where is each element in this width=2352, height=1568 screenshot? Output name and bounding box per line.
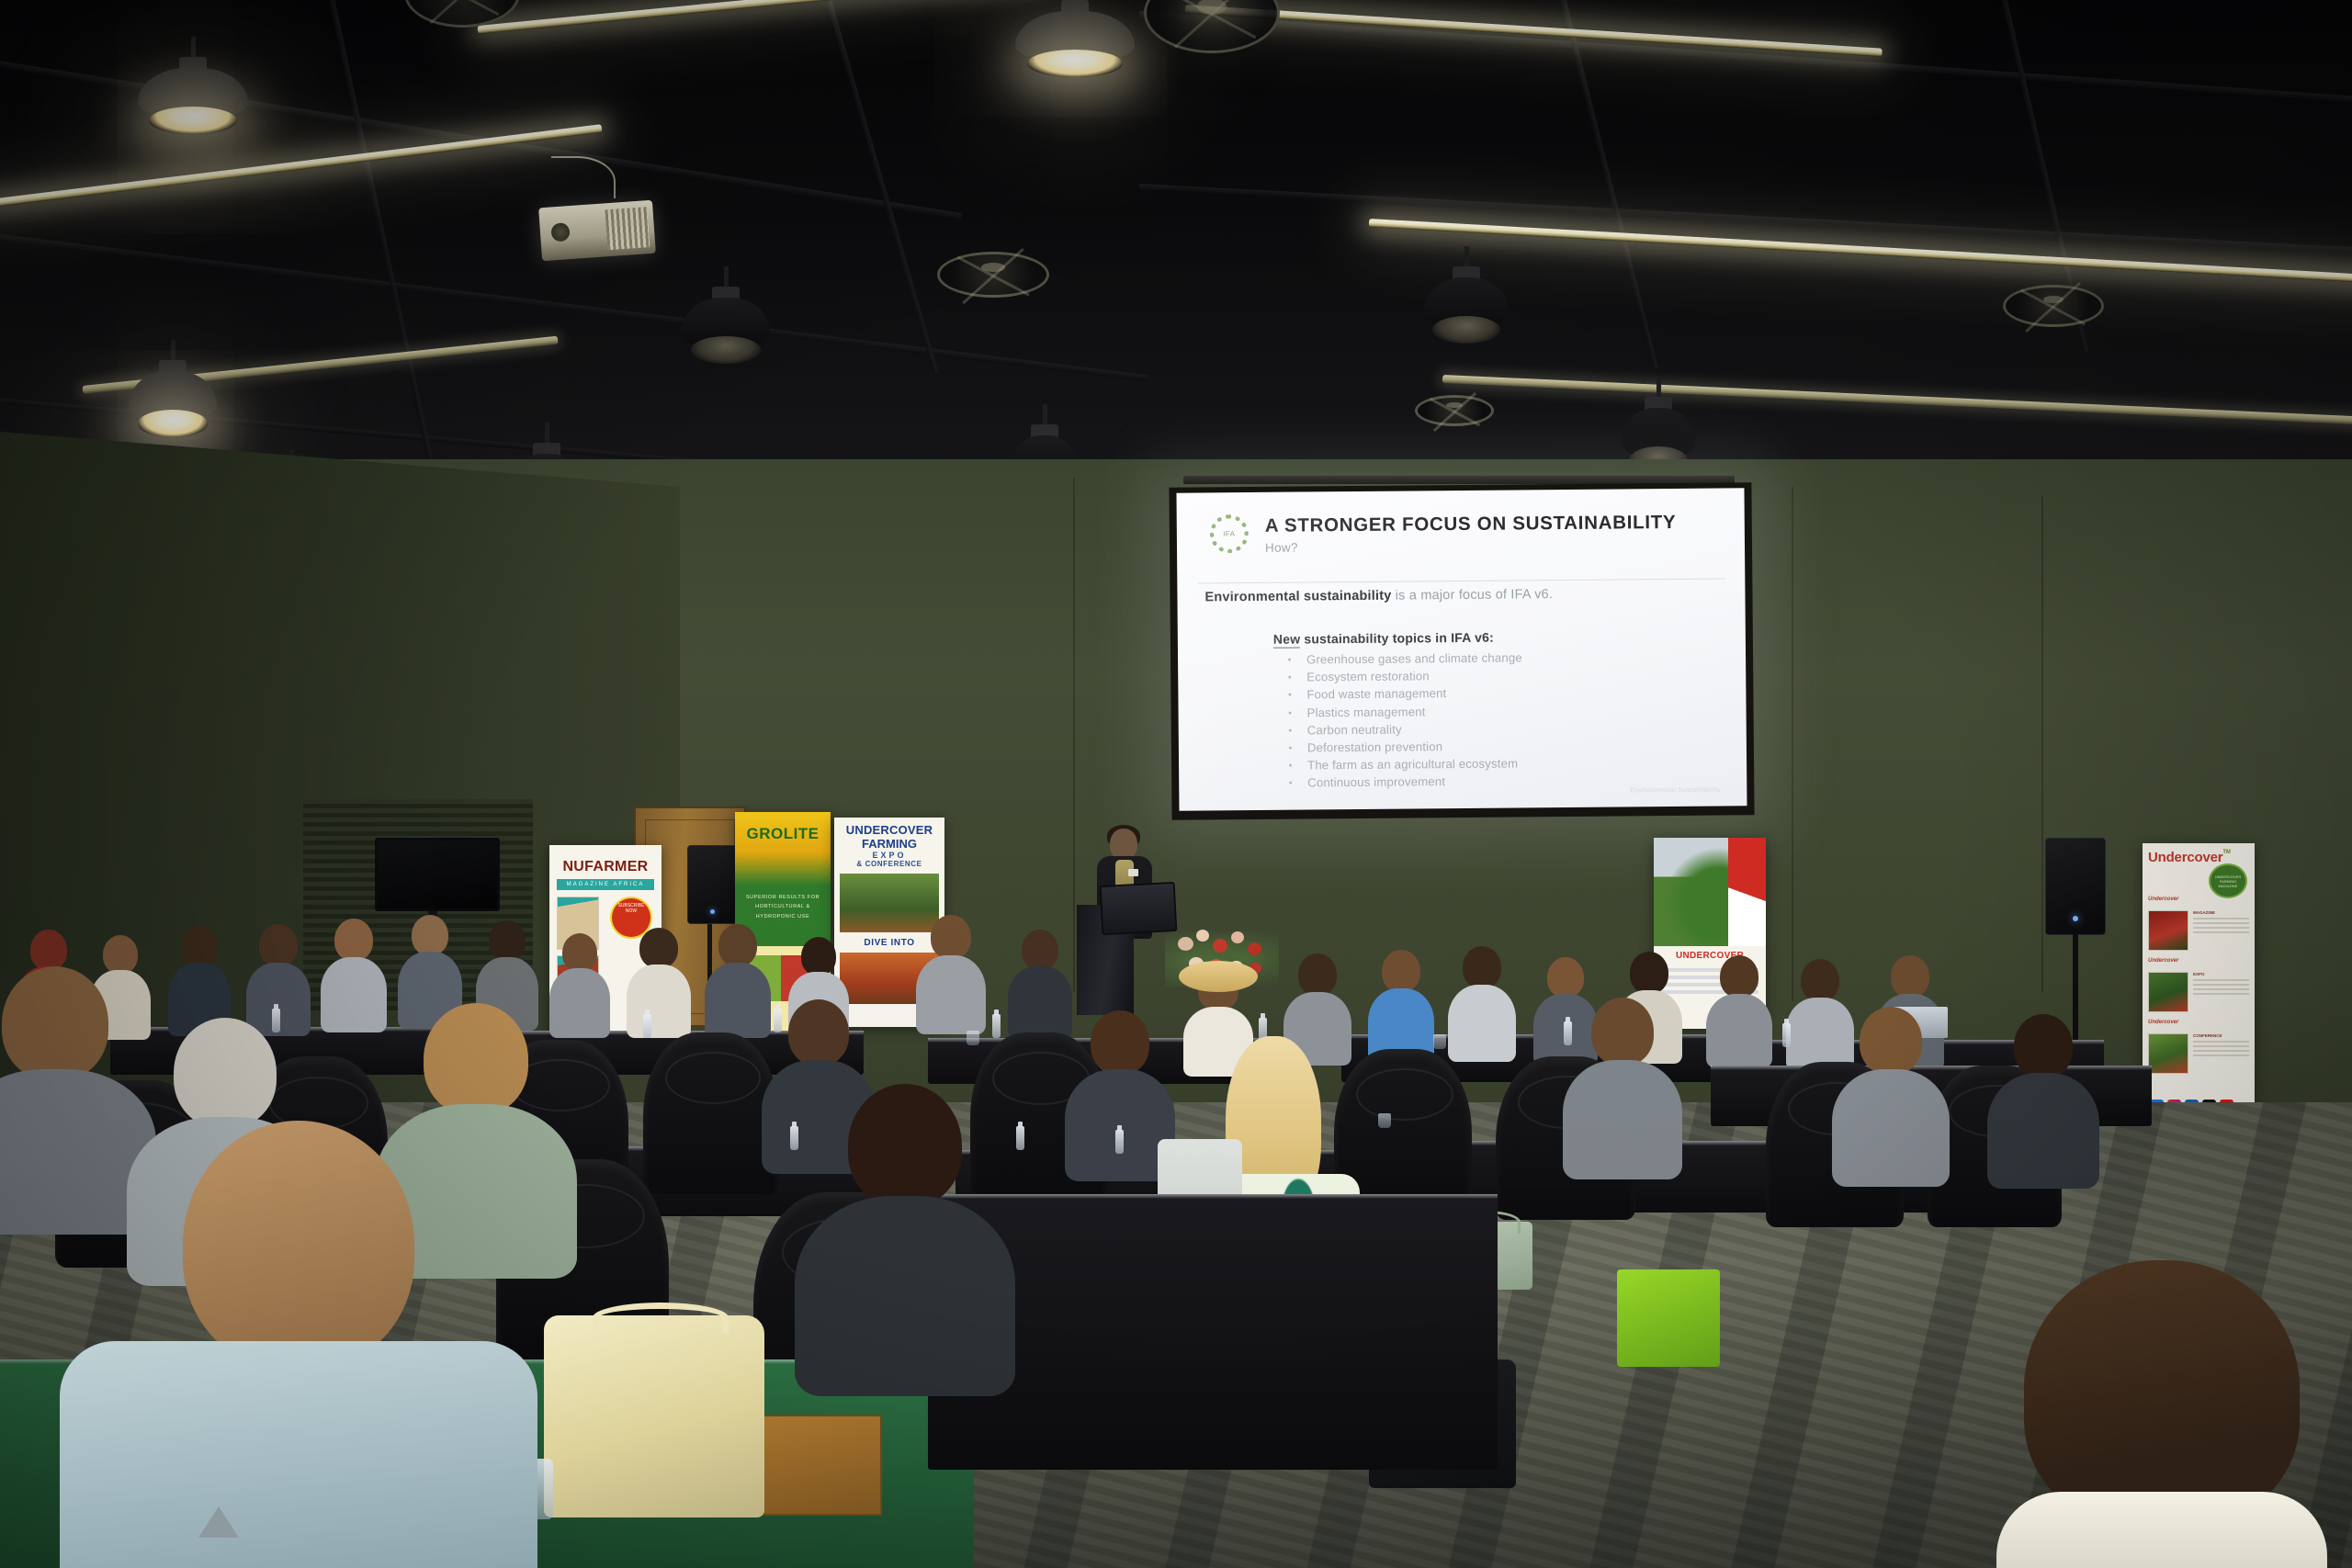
banner-uf-line1: UNDERCOVER [840, 823, 939, 837]
banner-undercover-section-text: EXPO [2193, 972, 2249, 1012]
banner-undercover-section-heading: MAGAZINE [2193, 910, 2249, 915]
water-bottle [790, 1126, 798, 1150]
pendant-dome-light [682, 266, 770, 355]
straw-hat [1179, 961, 1258, 992]
banner-undercover-section-heading: EXPO [2193, 972, 2249, 976]
audience-member [1709, 955, 1770, 1066]
presenter-name-badge [1128, 869, 1138, 876]
water-bottle [992, 1014, 1001, 1038]
pa-speaker-right [2045, 838, 2106, 935]
pendant-dome-light [1015, 0, 1135, 83]
audience-member [323, 919, 384, 1031]
banner-undercover-section-label: Undercover [2148, 1020, 2249, 1025]
strip-light [478, 0, 1046, 34]
audience-member [1839, 1007, 1942, 1187]
foreground-attendee-left [83, 1121, 514, 1568]
banner-uf-line2: FARMING [840, 837, 939, 851]
logo-text: IFA [1223, 530, 1235, 538]
audience-member [1011, 930, 1069, 1036]
ceiling-truss [1559, 0, 1657, 368]
conference-hall-photo: IFA A STRONGER FOCUS ON SUSTAINABILITY H… [0, 0, 2352, 1568]
ceiling-truss [328, 0, 436, 479]
banner-undercover-title: UndercoverTM [2148, 850, 2249, 865]
strip-light [1369, 219, 2352, 285]
slide-section-heading: New sustainability topics in IFA v6: [1273, 627, 1746, 646]
ceiling-fan-vent [1415, 395, 1494, 426]
pendant-dome-light [1424, 246, 1509, 333]
ceiling [0, 0, 2352, 514]
banner-undercover-seal: UNDERCOVER FARMING MAGAZINE [2211, 865, 2245, 897]
slide-subtitle: How? [1265, 536, 1745, 555]
video-projector [538, 200, 656, 262]
slide-section-heading-underlined: New [1273, 632, 1301, 649]
wall-seam [2041, 496, 2043, 992]
slide-title: A STRONGER FOCUS ON SUSTAINABILITY [1265, 512, 1745, 536]
canvas-tote-bag [544, 1315, 764, 1517]
ifa-logo-icon: IFA [1210, 514, 1249, 553]
banner-grolite-title: GROLITE [735, 825, 831, 843]
banner-undercover-tm: TM [2222, 850, 2230, 855]
banner-greenhouse-image [1654, 838, 1766, 946]
banner-undercover-rollup: UndercoverTM UNDERCOVER FARMING MAGAZINE… [2143, 843, 2255, 1124]
audience-member [1071, 1010, 1169, 1181]
banner-nufarmer-title: NUFARMER [557, 860, 654, 874]
wall-seam [1792, 487, 1793, 1001]
banner-undercover-section: MAGAZINE [2148, 910, 2249, 951]
slide-section-heading-rest: sustainability topics in IFA v6: [1300, 630, 1494, 647]
pendant-dome-light [1622, 377, 1695, 454]
slide-lead-rest: is a major focus of IFA v6. [1391, 587, 1553, 604]
drinking-glass [1433, 1034, 1446, 1049]
slide-bullet: Plastics management [1283, 702, 1747, 719]
ceiling-fan-vent [937, 252, 1049, 298]
banner-undercover-thumb [2148, 972, 2188, 1012]
drinking-glass [1378, 1113, 1391, 1128]
water-bottle [1115, 1130, 1124, 1154]
ceiling-fan-vent [1144, 0, 1280, 53]
pa-speaker-left [687, 845, 737, 924]
audience-member [1571, 998, 1674, 1179]
slide-lead-text: Environmental sustainability is a major … [1204, 585, 1745, 604]
banner-undercover-thumb [2148, 910, 2188, 951]
slide-bullet: Food waste management [1283, 684, 1746, 702]
wall-seam [1073, 478, 1075, 992]
slide-bullet: Ecosystem restoration [1283, 666, 1746, 683]
slide-bullet: The farm as an agricultural ecosystem [1283, 754, 1747, 772]
ceiling-truss [824, 0, 938, 374]
ceiling-fan-vent [2003, 285, 2104, 327]
audience-member [628, 928, 689, 1036]
banner-uf-line4: & CONFERENCE [840, 860, 939, 868]
foreground-attendee-right [2010, 1260, 2313, 1568]
slide-body: New sustainability topics in IFA v6: Gre… [1273, 627, 1747, 790]
audience-member [1452, 946, 1512, 1060]
presenter-head [1110, 829, 1137, 860]
ceiling-truss [1139, 11, 2352, 107]
audience-member [1994, 1014, 2093, 1189]
water-bottle [1782, 1023, 1791, 1047]
green-tote-bag [1617, 1269, 1720, 1367]
projection-screen: IFA A STRONGER FOCUS ON SUSTAINABILITY H… [1169, 482, 1754, 820]
presentation-slide: IFA A STRONGER FOCUS ON SUSTAINABILITY H… [1176, 488, 1747, 810]
banner-undercover-section-label: Undercover [2148, 897, 2249, 902]
slide-bullet-list: Greenhouse gases and climate change Ecos… [1283, 649, 1747, 790]
audience-member [919, 915, 983, 1032]
audience-member [707, 924, 768, 1036]
slide-footer: Environmental Sustainability [1630, 787, 1721, 795]
banner-nufarmer-subtitle: MAGAZINE AFRICA [557, 879, 654, 890]
strip-light [1442, 375, 2352, 425]
banner-undercover-section-heading: CONFERENCE [2193, 1033, 2249, 1038]
banner-undercover-section-text: MAGAZINE [2193, 910, 2249, 951]
banner-grolite-header: GROLITE [735, 812, 831, 886]
wall-tv-screen [375, 838, 500, 911]
banner-undercover-section: EXPO [2148, 972, 2249, 1012]
slide-lead-bold: Environmental sustainability [1204, 589, 1391, 605]
slide-bullet: Greenhouse gases and climate change [1283, 649, 1746, 666]
slide-bullet: Carbon neutrality [1283, 719, 1747, 737]
banner-undercover-thumb [2148, 1033, 2188, 1074]
drinking-glass [967, 1031, 979, 1045]
banner-undercover-title-text: Undercover [2148, 850, 2222, 865]
banquet-chair [643, 1032, 779, 1194]
audience-member [808, 1084, 1001, 1396]
water-bottle [643, 1014, 651, 1038]
banner-undercover-section-text: CONFERENCE [2193, 1033, 2249, 1074]
strip-light [0, 124, 602, 209]
banner-undercover-section: CONFERENCE [2148, 1033, 2249, 1074]
slide-bullet: Deforestation prevention [1283, 737, 1747, 754]
audience-member [1371, 950, 1431, 1062]
pendant-dome-light [129, 340, 217, 428]
banner-uf-line3: EXPO [840, 851, 939, 860]
pendant-dome-light [138, 37, 248, 140]
slide-divider [1197, 578, 1724, 583]
banner-undercover-section-label: Undercover [2148, 958, 2249, 964]
strip-light [1185, 5, 1883, 57]
water-bottle [1016, 1126, 1024, 1150]
slide-header: IFA A STRONGER FOCUS ON SUSTAINABILITY H… [1176, 488, 1745, 570]
